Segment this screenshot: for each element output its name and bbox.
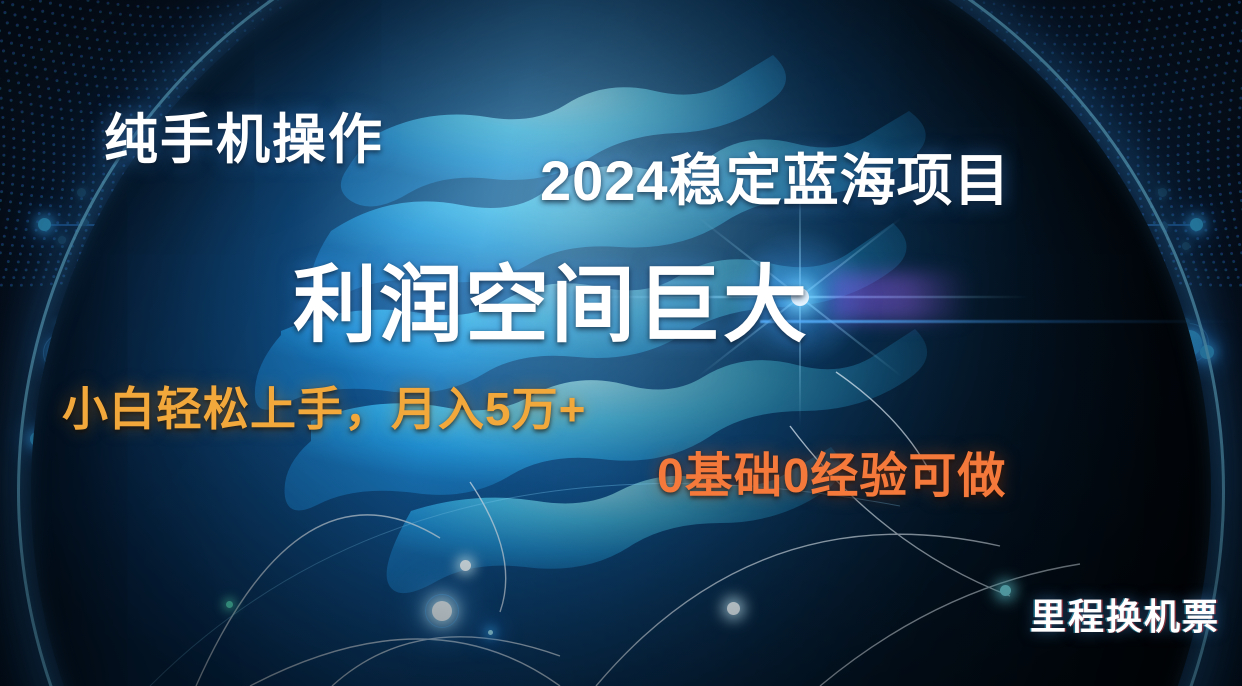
headline-year-project: 2024稳定蓝海项目 [540, 136, 1011, 217]
headline-profit: 利润空间巨大 [293, 238, 809, 359]
highlight-easy-income: 小白轻松上手，月入5万+ [62, 373, 586, 439]
headline-mileage: 里程换机票 [1030, 588, 1220, 640]
promo-poster: 纯手机操作 2024稳定蓝海项目 利润空间巨大 小白轻松上手，月入5万+ 0基础… [0, 0, 1242, 686]
horizontal-light-beam [760, 320, 1242, 323]
highlight-zero-base: 0基础0经验可做 [657, 436, 1006, 506]
headline-pure-mobile: 纯手机操作 [104, 95, 384, 174]
